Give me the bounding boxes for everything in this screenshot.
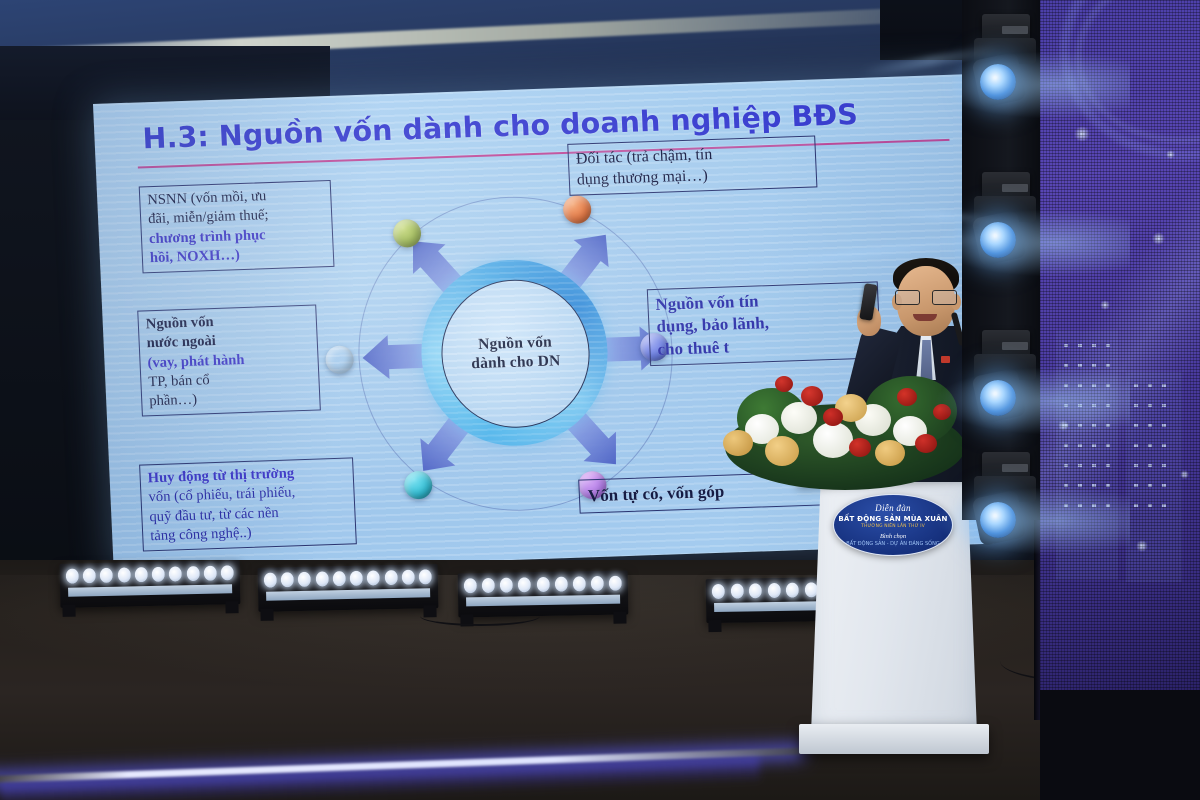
textbox-nsnn: NSNN (vốn mồi, ưu đãi, miễn/giảm thuế; c… — [139, 180, 335, 273]
speaker-mouth — [913, 314, 937, 321]
center-label-line2: dành cho DN — [471, 352, 561, 372]
floor-cable — [420, 606, 540, 626]
emblem-line-2: BẤT ĐỘNG SẢN MÙA XUÂN — [838, 515, 947, 523]
moving-head-light-1 — [968, 14, 1042, 124]
center-label-line1: Nguồn vốn — [478, 334, 552, 353]
stage-scene: H.3: Nguồn vốn dành cho doanh nghiệp BĐS — [0, 0, 1200, 800]
textbox-nguon-von-nuoc-ngoai: Nguồn vốn nước ngoài (vay, phát hành TP,… — [137, 305, 321, 417]
led-bar-1 — [60, 560, 241, 608]
slide-title: H.3: Nguồn vốn dành cho doanh nghiệp BĐS — [142, 95, 943, 155]
lw-pixel-grid — [1040, 0, 1200, 700]
podium-emblem: Diễn đàn BẤT ĐỘNG SẢN MÙA XUÂN THƯỜNG NI… — [833, 494, 953, 556]
floral-arrangement — [715, 352, 967, 492]
moving-head-light-4 — [968, 452, 1042, 562]
led-wall-base-shadow — [1040, 690, 1200, 800]
nn-line-5: phần…) — [149, 387, 313, 412]
moving-head-light-2 — [968, 172, 1042, 282]
podium-base — [799, 724, 989, 754]
speaker-glasses — [895, 290, 957, 304]
textbox-huy-dong-thi-truong-von: Huy động từ thị trường vốn (cổ phiếu, tr… — [139, 457, 357, 551]
moving-head-light-3 — [968, 330, 1042, 440]
lamp — [66, 568, 79, 583]
led-bar-2 — [258, 564, 439, 612]
led-video-wall — [1040, 0, 1200, 700]
emblem-line-3: THƯỜNG NIÊN LẦN THỨ IV — [861, 524, 925, 529]
emblem-line-5: BẤT ĐỘNG SẢN - DỰ ÁN ĐÁNG SỐNG — [846, 541, 939, 547]
emblem-line-1: Diễn đàn — [875, 504, 911, 513]
textbox-doi-tac: Đối tác (trả chậm, tín dụng thương mại…) — [567, 135, 817, 196]
center-label: Nguồn vốn dành cho DN — [470, 333, 561, 374]
emblem-line-4: Bình chọn — [880, 533, 906, 540]
